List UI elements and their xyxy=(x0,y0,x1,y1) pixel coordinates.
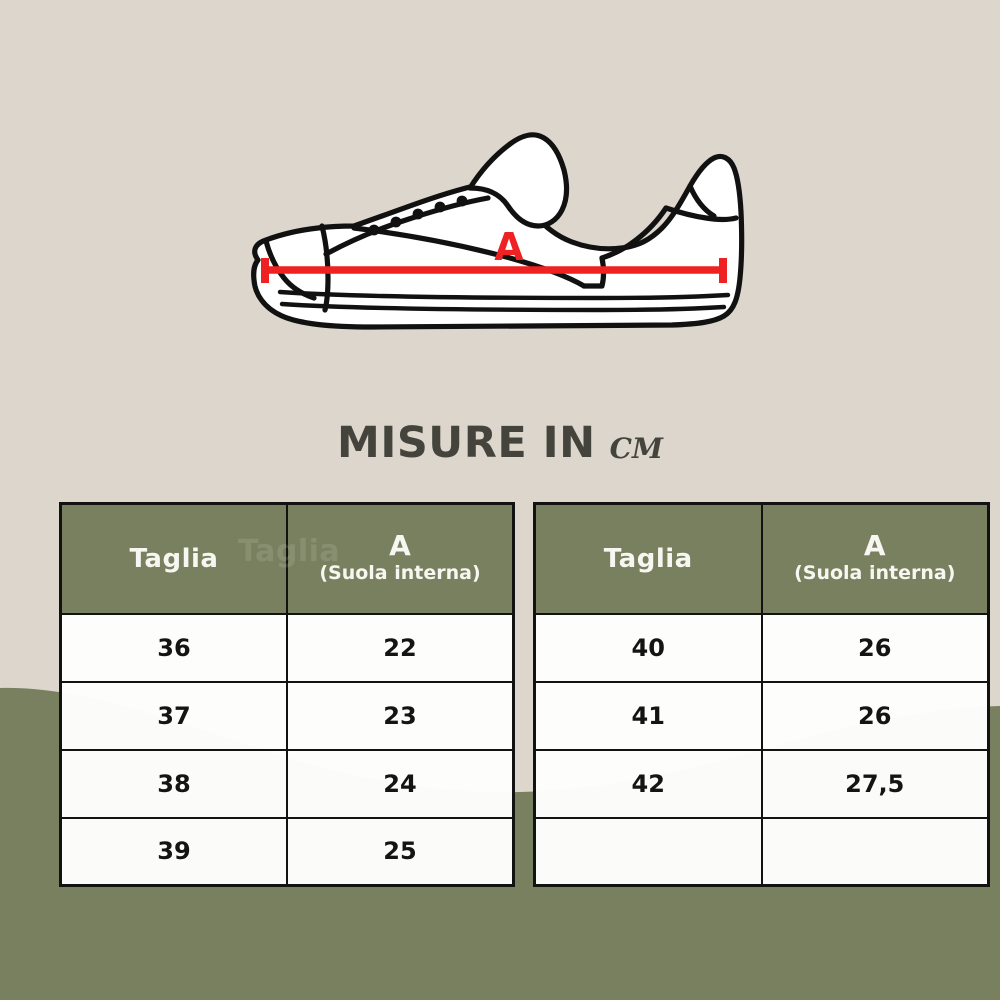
cell-measure: 27,5 xyxy=(762,750,989,818)
table-row: 41 26 xyxy=(535,682,989,750)
table-row: 40 26 xyxy=(535,614,989,682)
table-row: 42 27,5 xyxy=(535,750,989,818)
cell-measure: 24 xyxy=(287,750,514,818)
table-row: 36 22 xyxy=(61,614,514,682)
size-table-left-head: Taglia A (Suola interna) xyxy=(61,504,514,614)
table-row-empty xyxy=(535,818,989,886)
table-header-row: Taglia A (Suola interna) xyxy=(535,504,989,614)
header-cell-taglia: Taglia xyxy=(61,504,288,614)
cell-size: 39 xyxy=(61,818,288,886)
size-table-right: Taglia A (Suola interna) 40 26 41 26 42 … xyxy=(533,502,990,887)
size-table-left-body: 36 22 37 23 38 24 39 25 xyxy=(61,614,514,886)
header-cell-measure: A (Suola interna) xyxy=(287,504,514,614)
header-label-a: A xyxy=(763,531,988,560)
header-label-suola-interna: (Suola interna) xyxy=(288,561,512,587)
cell-size: 42 xyxy=(535,750,762,818)
table-row: 39 25 xyxy=(61,818,514,886)
cell-measure: 22 xyxy=(287,614,514,682)
header-label-a: A xyxy=(288,531,512,560)
header-label-taglia: Taglia xyxy=(536,544,761,574)
cell-measure: 26 xyxy=(762,682,989,750)
cell-size: 41 xyxy=(535,682,762,750)
size-table-left: Taglia A (Suola interna) 36 22 37 23 38 … xyxy=(59,502,515,887)
table-row: 38 24 xyxy=(61,750,514,818)
cell-size: 40 xyxy=(535,614,762,682)
table-header-row: Taglia A (Suola interna) xyxy=(61,504,514,614)
page-title-unit: cm xyxy=(610,425,663,465)
cell-size: 37 xyxy=(61,682,288,750)
header-cell-taglia: Taglia xyxy=(535,504,762,614)
size-guide-page: A MISURE IN cm Taglia A (Suola interna) … xyxy=(0,0,1000,1000)
table-row: 37 23 xyxy=(61,682,514,750)
cell-measure: 25 xyxy=(287,818,514,886)
header-label-suola-interna: (Suola interna) xyxy=(763,561,988,587)
measure-label-a: A xyxy=(222,108,762,340)
shoe-illustration: A xyxy=(222,108,762,340)
cell-measure: 23 xyxy=(287,682,514,750)
size-table-right-head: Taglia A (Suola interna) xyxy=(535,504,989,614)
cell-measure xyxy=(762,818,989,886)
cell-size: 36 xyxy=(61,614,288,682)
header-label-taglia: Taglia xyxy=(62,544,286,574)
page-title-main: MISURE IN xyxy=(337,422,596,465)
cell-size: 38 xyxy=(61,750,288,818)
header-cell-measure: A (Suola interna) xyxy=(762,504,989,614)
size-table-right-body: 40 26 41 26 42 27,5 xyxy=(535,614,989,886)
cell-measure: 26 xyxy=(762,614,989,682)
page-title: MISURE IN cm xyxy=(0,412,1000,474)
cell-size xyxy=(535,818,762,886)
svg-text:A: A xyxy=(494,225,524,269)
